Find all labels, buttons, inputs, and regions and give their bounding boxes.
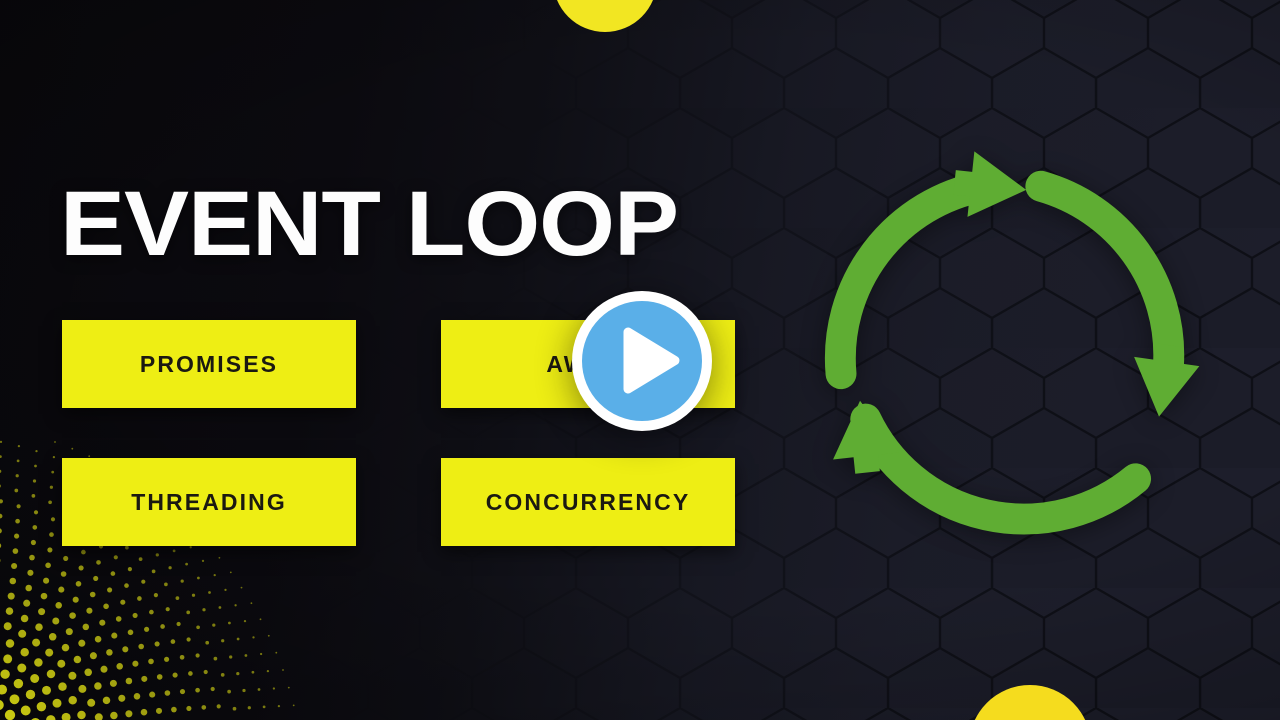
chip-concurrency[interactable]: CONCURRENCY bbox=[441, 458, 735, 546]
play-button[interactable] bbox=[570, 289, 714, 433]
chip-promises-label: PROMISES bbox=[140, 351, 278, 378]
chip-threading-label: THREADING bbox=[131, 489, 287, 516]
chip-concurrency-label: CONCURRENCY bbox=[486, 489, 691, 516]
chip-threading[interactable]: THREADING bbox=[62, 458, 356, 546]
chip-promises[interactable]: PROMISES bbox=[62, 320, 356, 408]
page-title: EVENT LOOP bbox=[60, 176, 678, 272]
thumbnail-canvas: EVENT LOOP PROMISES AWAIT THREADING CONC… bbox=[0, 0, 1280, 720]
